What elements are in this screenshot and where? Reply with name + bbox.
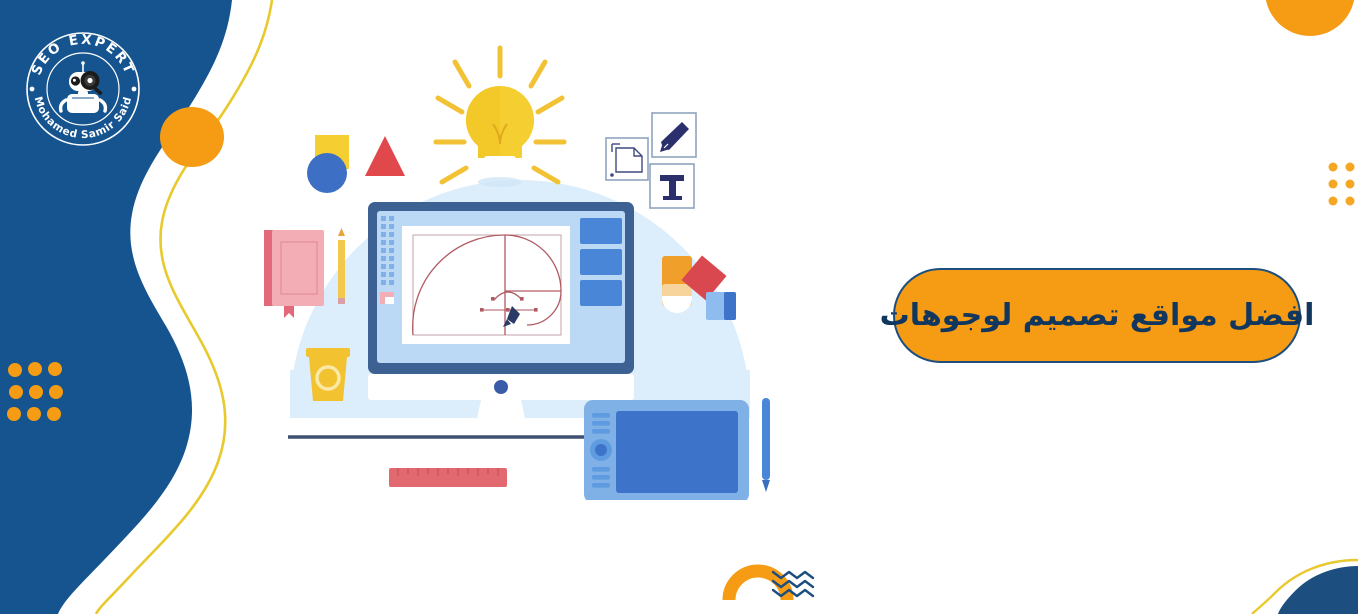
logo-dot-right bbox=[132, 87, 137, 92]
red-triangle-shape bbox=[365, 136, 405, 176]
seo-expert-logo[interactable]: SEO EXPERT Mohamed Samir Said bbox=[22, 28, 144, 150]
monitor-power-dot bbox=[494, 380, 508, 394]
ruler-icon bbox=[389, 468, 507, 487]
pen-nib-icon bbox=[652, 113, 696, 157]
graphic-design-illustration bbox=[250, 30, 790, 500]
stylus-pen bbox=[762, 398, 770, 492]
monitor-right-panels bbox=[580, 218, 622, 306]
artboard-icon bbox=[606, 138, 648, 180]
robot-mascot-icon bbox=[61, 61, 106, 113]
coffee-cup-icon bbox=[306, 348, 350, 401]
navy-zigzag-waves bbox=[773, 572, 813, 596]
banner-canvas: SEO EXPERT Mohamed Samir Said bbox=[0, 0, 1358, 614]
notebook-icon bbox=[264, 230, 324, 318]
cta-button-label: افضل مواقع تصميم لوجوهات bbox=[880, 301, 1315, 331]
pencil-icon bbox=[338, 228, 345, 304]
logo-dot-left bbox=[30, 87, 35, 92]
orange-ellipse bbox=[160, 107, 224, 167]
cta-button[interactable]: افضل مواقع تصميم لوجوهات bbox=[893, 268, 1301, 363]
orange-dot-grid-left bbox=[7, 362, 63, 421]
orange-dot-grid-right bbox=[1329, 163, 1355, 206]
drawing-tablet bbox=[584, 400, 749, 500]
lightbulb-icon bbox=[436, 48, 564, 187]
blue-circle-shape bbox=[307, 153, 347, 193]
navy-corner-blob bbox=[1278, 566, 1358, 614]
orange-corner-circle bbox=[1265, 0, 1355, 36]
text-tool-icon bbox=[650, 164, 694, 208]
